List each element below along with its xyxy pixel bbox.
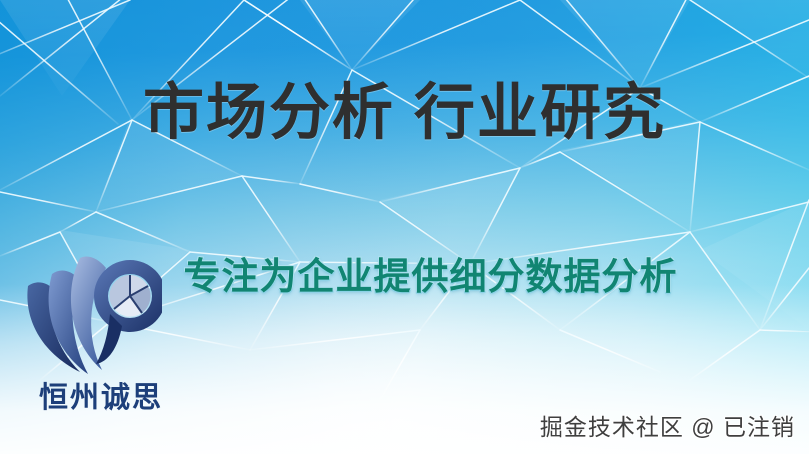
page-title: 市场分析 行业研究 [0,80,809,144]
company-logo: 恒州诚思 [8,252,194,428]
leaf-pie-chart-emblem-icon [22,252,162,378]
watermark-text: 掘金技术社区 @ 已注销 [540,408,795,442]
poster-canvas: 市场分析 行业研究 专注为企业提供细分数据分析 [0,0,809,454]
logo-wordmark: 恒州诚思 [8,374,194,416]
